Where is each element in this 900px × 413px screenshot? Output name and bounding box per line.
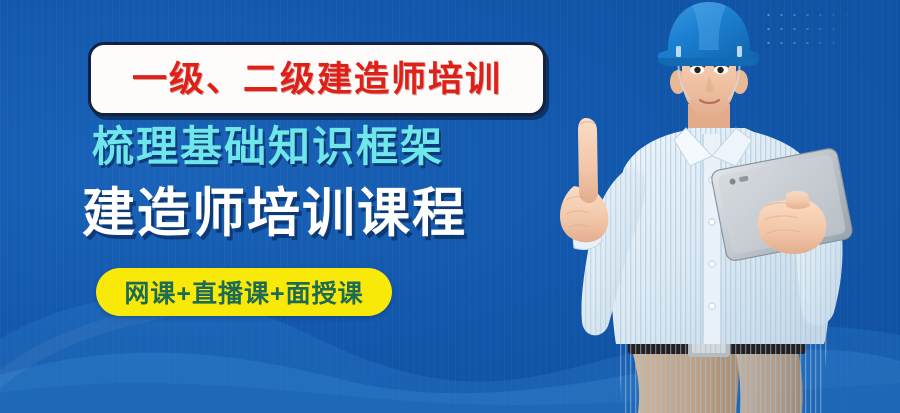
main-headline: 建造师培训课程 xyxy=(82,185,467,242)
course-format-text: 网课+直播课+面授课 xyxy=(124,274,363,310)
course-promo-banner: 一级、二级建造师培训 梳理基础知识框架 建造师培训课程 网课+直播课+面授课 xyxy=(0,0,900,413)
instructor-photo xyxy=(540,0,900,413)
course-format-pill: 网课+直播课+面授课 xyxy=(96,268,392,316)
subheadline: 梳理基础知识框架 xyxy=(92,124,444,169)
hard-hat xyxy=(658,2,760,66)
headline-box: 一级、二级建造师培训 xyxy=(88,42,546,116)
headline-group: 一级、二级建造师培训 梳理基础知识框架 建造师培训课程 网课+直播课+面授课 xyxy=(0,0,560,413)
index-finger xyxy=(578,118,598,203)
headline-box-text: 一级、二级建造师培训 xyxy=(132,62,502,97)
